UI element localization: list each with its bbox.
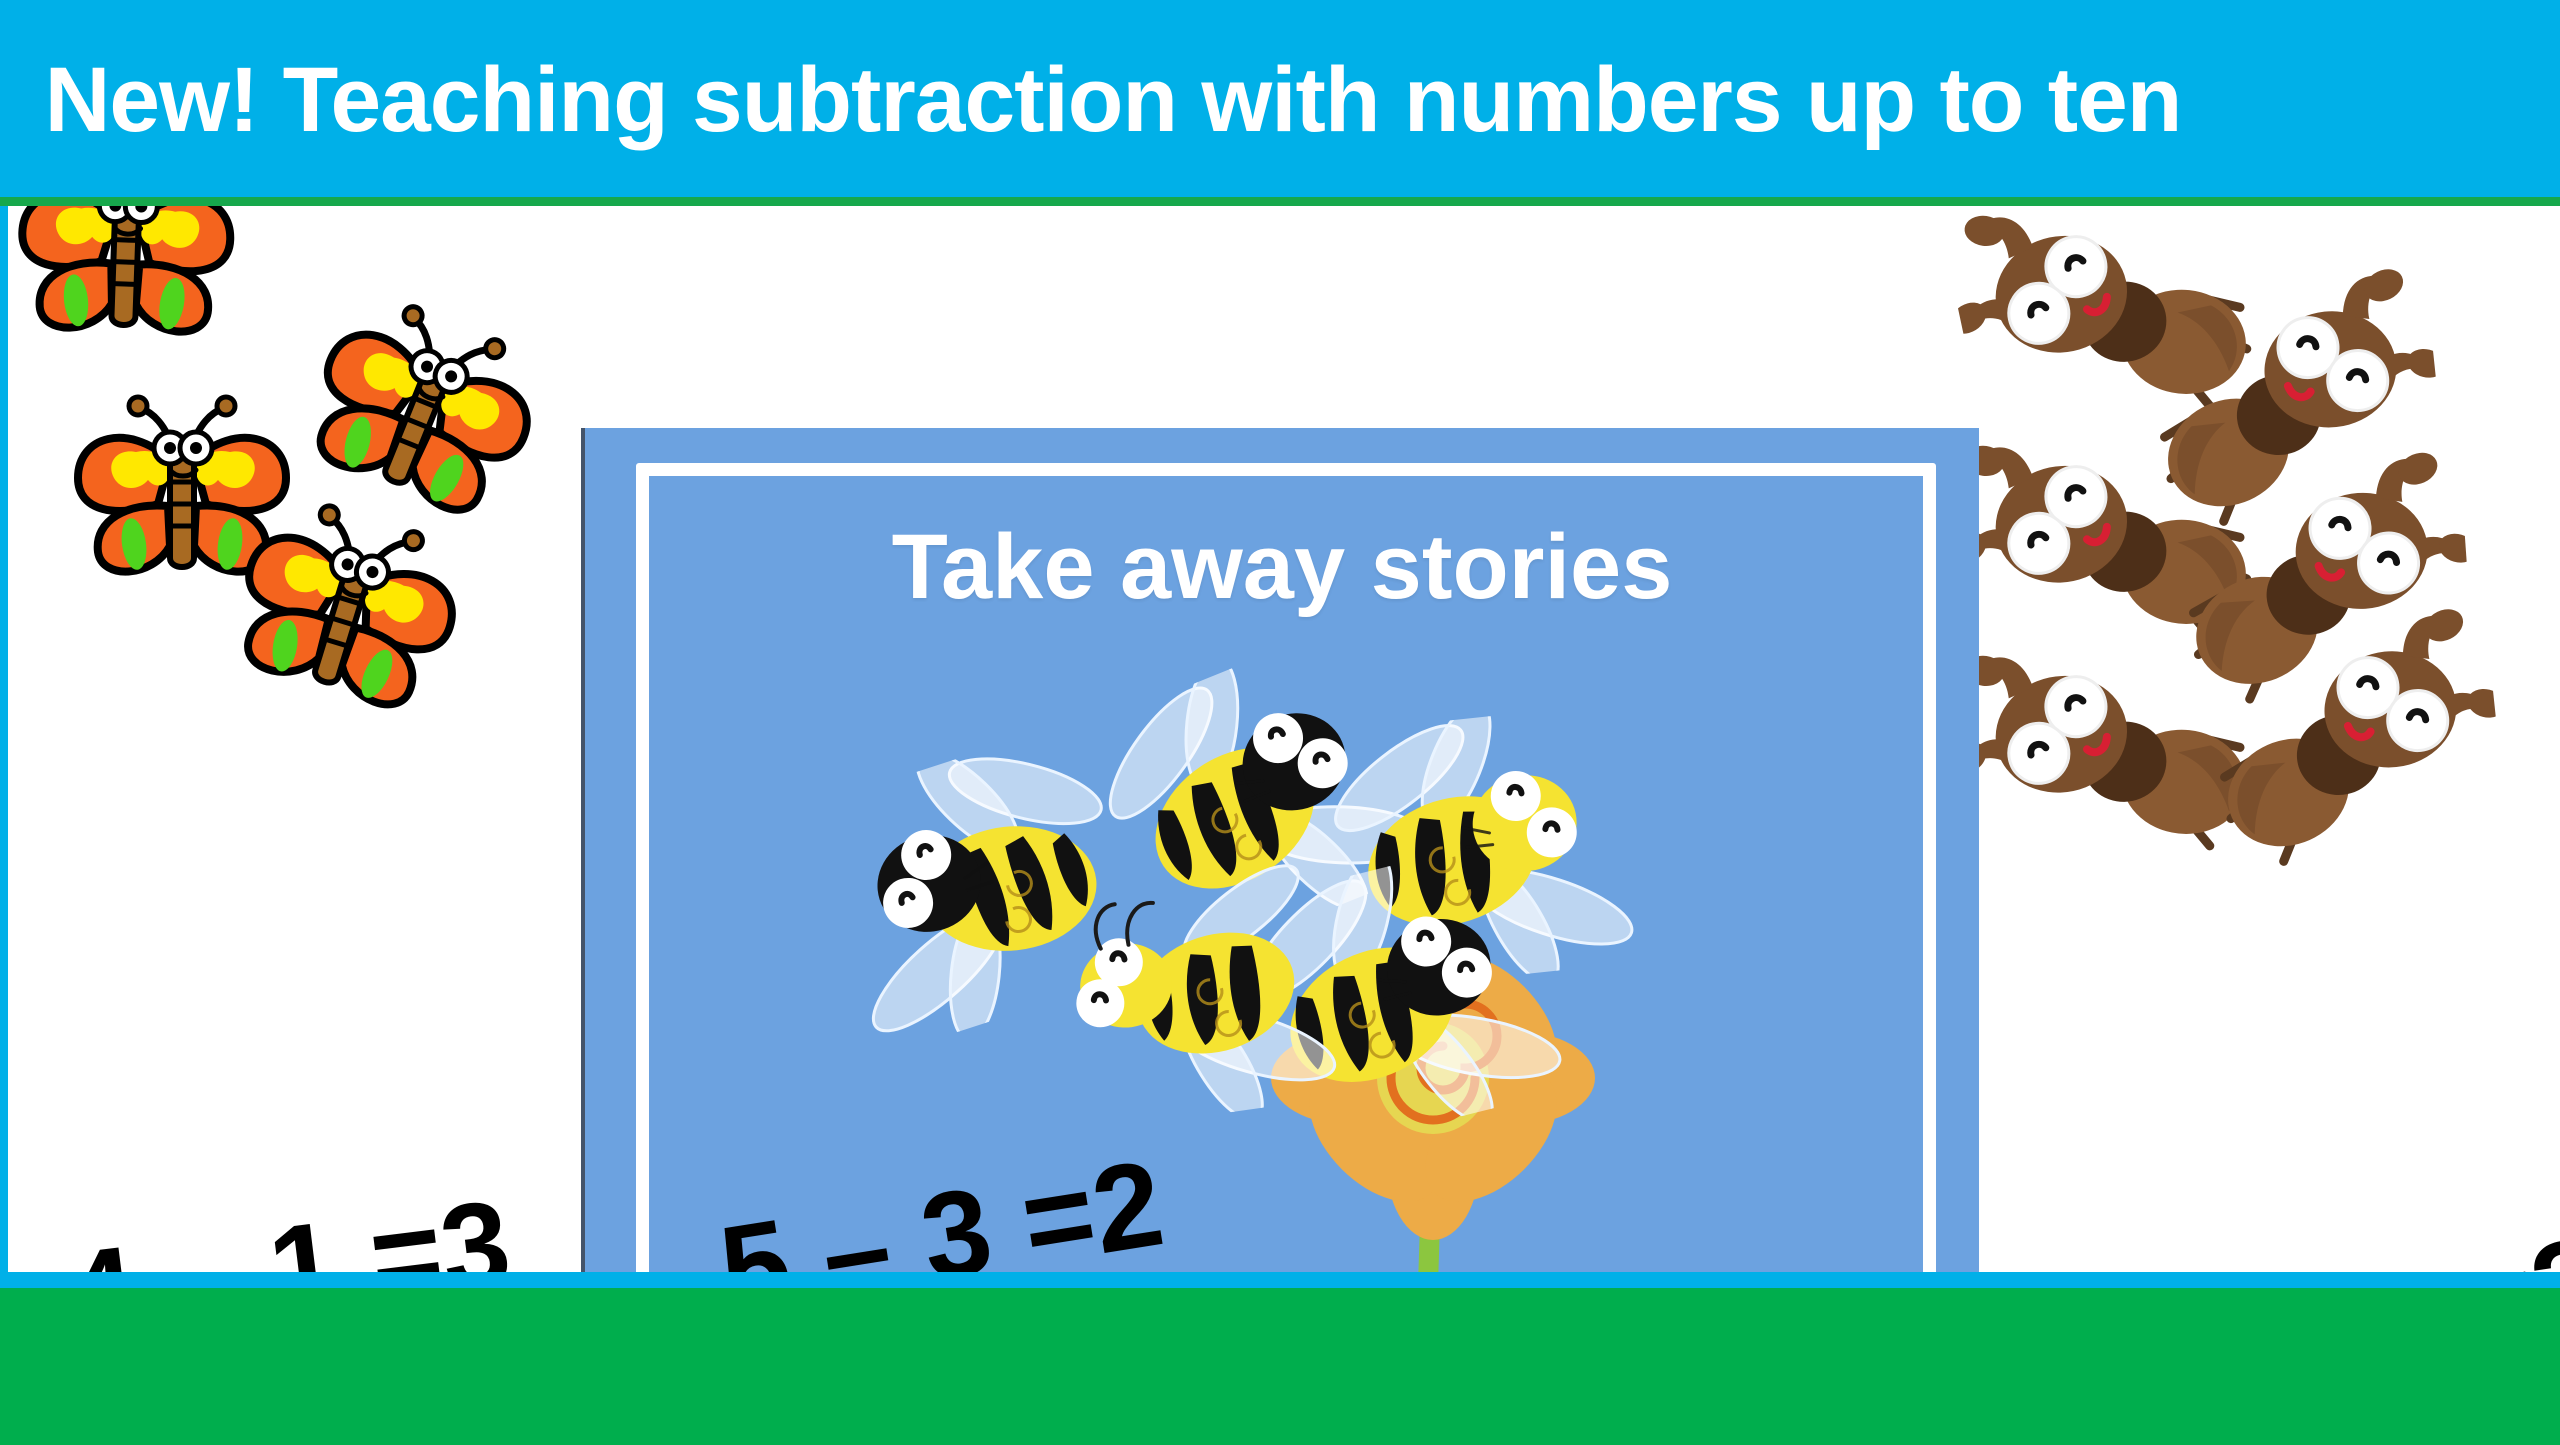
footer-accent-strip (0, 1272, 2560, 1288)
butterfly-1 (8, 206, 243, 348)
panel-title: Take away stories (585, 521, 1979, 613)
bee-5 (999, 836, 1362, 1139)
slide-root: New! Teaching subtraction with numbers u… (0, 0, 2560, 1445)
header-bar: New! Teaching subtraction with numbers u… (0, 0, 2560, 200)
equation-butterflies: 4 – 1 =3 (59, 1172, 517, 1272)
footer-bar: read learn ® (0, 1288, 2560, 1445)
page-title: New! Teaching subtraction with numbers u… (11, 54, 2181, 146)
header-divider (0, 197, 2560, 206)
content-canvas: 4 – 1 =3 (8, 206, 2560, 1272)
ant-6 (2184, 591, 2512, 901)
story-panel: Take away stories (581, 428, 1979, 1272)
equation-ants: 6 – 3 =3 (2152, 1208, 2560, 1272)
